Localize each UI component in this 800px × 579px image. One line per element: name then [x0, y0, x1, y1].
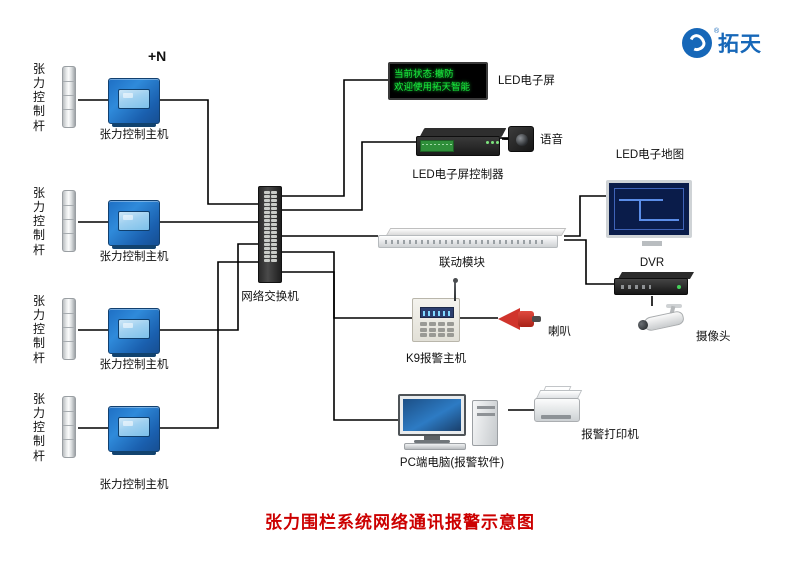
network-switch-label: 网络交换机 — [241, 290, 299, 304]
tension-host-3-label: 张力控制主机 — [100, 358, 169, 372]
alarm-printer-label: 报警打印机 — [581, 428, 639, 442]
alarm-printer — [534, 390, 582, 424]
network-switch — [258, 186, 282, 283]
led-electronic-map-label: LED电子地图 — [616, 148, 684, 162]
led-screen-controller — [416, 128, 504, 158]
siren-speaker — [498, 306, 542, 332]
dvr-recorder — [614, 272, 692, 296]
pc-workstation-label: PC端电脑(报警软件) — [400, 456, 504, 470]
voice-module — [508, 126, 534, 152]
linkage-module-label: 联动模块 — [439, 256, 485, 270]
brand-logo: ® 拓天 — [676, 28, 772, 72]
led-screen-line-2: 欢迎使用拓天智能 — [394, 81, 482, 94]
tension-pole-4-label: 张 力 控 制 杆 — [32, 392, 46, 463]
led-display-screen: 当前状态:撤防 欢迎使用拓天智能 — [388, 62, 488, 100]
k9-alarm-host — [412, 298, 460, 342]
siren-speaker-label: 喇叭 — [548, 325, 571, 339]
plus-n-label: +N — [148, 48, 166, 64]
tension-pole-1-label: 张 力 控 制 杆 — [32, 62, 46, 133]
diagram-title: 张力围栏系统网络通讯报警示意图 — [265, 508, 535, 533]
brand-name: 拓天 — [718, 34, 762, 55]
tension-host-1-label: 张力控制主机 — [100, 128, 169, 142]
tension-pole-4 — [62, 396, 76, 458]
tension-pole-3-label: 张 力 控 制 杆 — [32, 294, 46, 365]
linkage-module — [378, 228, 564, 250]
security-camera-label: 摄像头 — [696, 330, 731, 344]
tension-host-2-label: 张力控制主机 — [100, 250, 169, 264]
led-display-screen-label: LED电子屏 — [498, 74, 555, 88]
dvr-recorder-label: DVR — [640, 256, 664, 270]
tension-pole-3 — [62, 298, 76, 360]
tuotian-logo-icon — [682, 28, 712, 58]
tension-host-4-label: 张力控制主机 — [100, 478, 169, 492]
tension-host-1 — [108, 78, 160, 124]
tension-pole-2-label: 张 力 控 制 杆 — [32, 186, 46, 257]
tension-pole-1 — [62, 66, 76, 128]
pc-workstation — [398, 394, 508, 450]
tension-host-4 — [108, 406, 160, 452]
tension-pole-2 — [62, 190, 76, 252]
tension-host-3 — [108, 308, 160, 354]
tension-host-2 — [108, 200, 160, 246]
led-screen-line-1: 当前状态:撤防 — [394, 68, 482, 81]
diagram-canvas: 张 力 控 制 杆 张 力 控 制 杆 张 力 控 制 杆 张 力 控 制 杆 … — [0, 0, 800, 579]
k9-alarm-host-label: K9报警主机 — [406, 352, 466, 366]
security-camera — [636, 304, 692, 338]
voice-module-label: 语音 — [540, 133, 563, 147]
led-screen-controller-label: LED电子屏控制器 — [412, 168, 503, 182]
led-electronic-map — [606, 180, 692, 238]
